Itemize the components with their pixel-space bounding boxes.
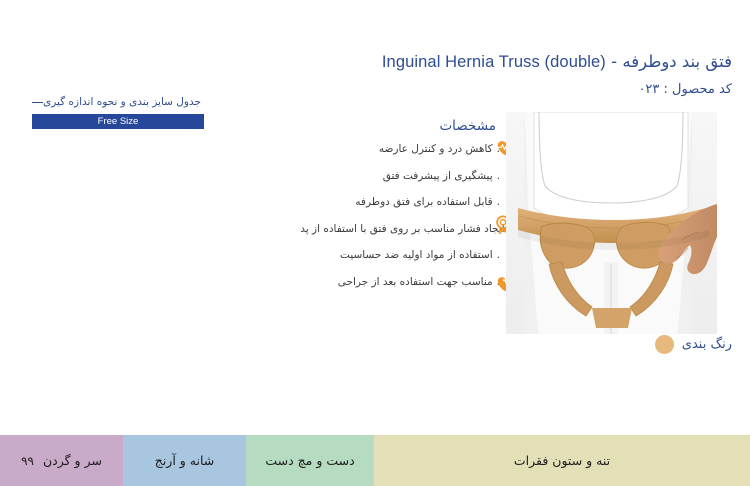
- product-photo: [506, 112, 717, 334]
- spec-text: پیشگیری از پیشرفت فتق: [383, 170, 493, 182]
- divider-dash: [32, 102, 43, 103]
- specifications-section: مشخصات .کاهش درد و کنترل عارضه .پیشگیری …: [242, 118, 500, 303]
- tab-trunk-and-spine[interactable]: تنه و ستون فقرات: [374, 435, 750, 486]
- color-swatch-beige[interactable]: [655, 335, 674, 354]
- list-item: .قابل استفاده برای فتق دوطرفه: [242, 197, 500, 208]
- list-item: .ایجاد فشار مناسب بر روی فتق با استفاده …: [242, 224, 512, 235]
- color-options-label: رنگ بندی: [682, 337, 732, 352]
- bottom-nav: سر و گردن ۹۹ شانه و آرنج دست و مچ دست تن…: [0, 435, 750, 486]
- tab-hand-and-wrist[interactable]: دست و مچ دست: [246, 435, 374, 486]
- product-header: فتق بند دوطرفه - Inguinal Hernia Truss (…: [382, 52, 732, 97]
- list-item: .مناسب جهت استفاده بعد از جراحی: [242, 277, 500, 288]
- product-code-value: ۰۲۳: [638, 82, 659, 97]
- bullet-glyph: .: [497, 197, 500, 208]
- spec-text: کاهش درد و کنترل عارضه: [379, 143, 493, 155]
- tab-label: سر و گردن: [43, 453, 102, 468]
- size-chart-label: جدول سایز بندی و نحوه اندازه گیری: [10, 96, 222, 108]
- page-number: ۹۹: [21, 454, 34, 468]
- spec-text: قابل استفاده برای فتق دوطرفه: [355, 196, 492, 208]
- product-code: کد محصول : ۰۲۳: [382, 82, 732, 97]
- product-code-label: کد محصول :: [664, 82, 732, 97]
- list-item: .پیشگیری از پیشرفت فتق: [242, 171, 500, 182]
- tab-label: تنه و ستون فقرات: [514, 453, 610, 468]
- spec-text: مناسب جهت استفاده بعد از جراحی: [338, 276, 493, 288]
- product-title-en: Inguinal Hernia Truss (double): [382, 53, 606, 71]
- tabbar-notch: [0, 427, 240, 435]
- page-title: فتق بند دوطرفه - Inguinal Hernia Truss (…: [382, 52, 732, 73]
- spec-text: استفاده از مواد اولیه ضد حساسیت: [340, 249, 493, 261]
- title-separator: -: [606, 52, 622, 71]
- free-size-button[interactable]: Free Size: [32, 114, 204, 129]
- bullet-glyph: .: [497, 171, 500, 182]
- tab-label: شانه و آرنج: [155, 453, 215, 468]
- product-title-fa: فتق بند دوطرفه: [622, 52, 732, 71]
- tab-head-and-neck[interactable]: سر و گردن ۹۹: [0, 435, 123, 486]
- list-item: .استفاده از مواد اولیه ضد حساسیت: [242, 250, 500, 261]
- catalog-page: فتق بند دوطرفه - Inguinal Hernia Truss (…: [0, 0, 750, 486]
- list-item: .کاهش درد و کنترل عارضه: [242, 144, 500, 155]
- color-options: رنگ بندی: [655, 335, 732, 354]
- specifications-heading: مشخصات: [242, 118, 500, 134]
- tab-shoulder-and-elbow[interactable]: شانه و آرنج: [123, 435, 246, 486]
- tab-label: دست و مچ دست: [265, 453, 354, 468]
- spec-text: ایجاد فشار مناسب بر روی فتق با استفاده ا…: [300, 223, 504, 235]
- size-chart-section: جدول سایز بندی و نحوه اندازه گیری Free S…: [10, 96, 222, 129]
- bullet-glyph: .: [497, 250, 500, 261]
